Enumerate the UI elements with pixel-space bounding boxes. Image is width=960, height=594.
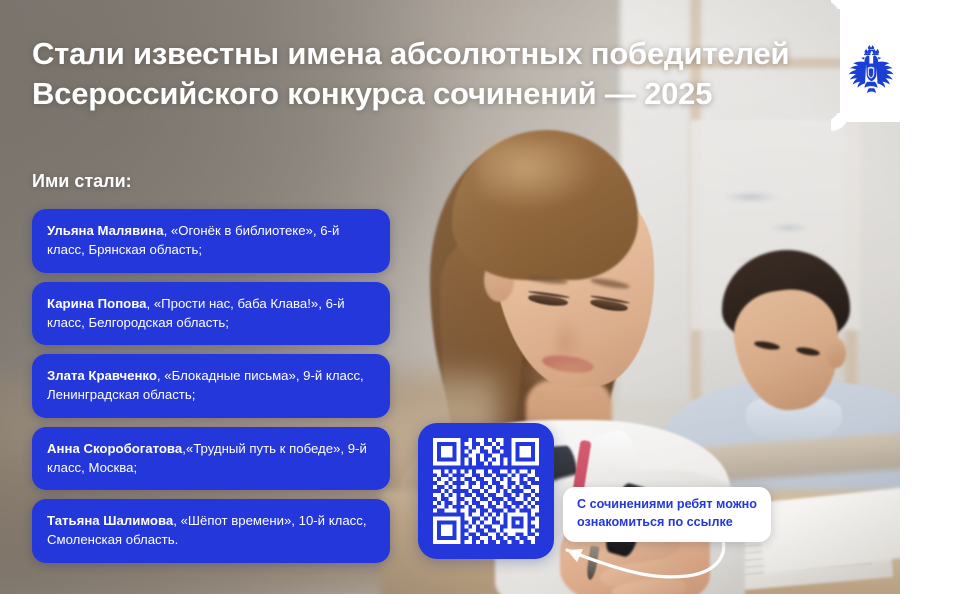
winners-list-label: Ими стали: xyxy=(32,171,132,192)
page-title: Стали известны имена абсолютных победите… xyxy=(32,34,862,115)
callout-line-1: С сочинениями ребят можно xyxy=(577,496,757,514)
winner-name: Татьяна Шалимова xyxy=(47,513,173,528)
winner-name: Ульяна Малявина xyxy=(47,223,164,238)
winner-name: Карина Попова xyxy=(47,296,147,311)
winner-chip: Татьяна Шалимова, «Шёпот времени», 10-й … xyxy=(32,499,390,563)
callout-box: С сочинениями ребят можно ознакомиться п… xyxy=(563,487,771,542)
photo-boy-ear xyxy=(826,338,846,368)
winner-name: Злата Кравченко xyxy=(47,368,157,383)
winner-chip: Анна Скоробогатова,«Трудный путь к побед… xyxy=(32,427,390,491)
photo-girl-nose xyxy=(554,316,584,354)
winner-chip: Ульяна Малявина, «Огонёк в библиотеке», … xyxy=(32,209,390,273)
qr-code-icon xyxy=(429,434,543,548)
photo-girl-chin xyxy=(522,362,618,402)
winner-chip: Карина Попова, «Прости нас, баба Клава!»… xyxy=(32,282,390,346)
winner-name: Анна Скоробогатова xyxy=(47,441,182,456)
winners-list: Ульяна Малявина, «Огонёк в библиотеке», … xyxy=(32,209,390,563)
right-white-margin xyxy=(900,0,960,594)
callout-line-2: ознакомиться по ссылке xyxy=(577,514,757,532)
winner-chip: Злата Кравченко, «Блокадные письма», 9-й… xyxy=(32,354,390,418)
photo-girl-hair-highlight xyxy=(478,140,598,210)
poster-root: Стали известны имена абсолютных победите… xyxy=(0,0,960,594)
qr-code[interactable] xyxy=(418,423,554,559)
